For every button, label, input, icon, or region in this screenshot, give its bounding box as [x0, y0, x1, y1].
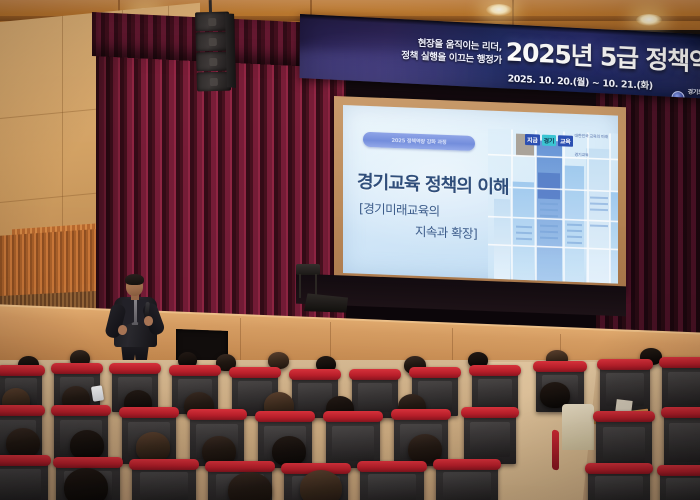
- auditorium-seat: [0, 462, 48, 500]
- attendee-head: [136, 432, 170, 462]
- rack-leg: [299, 274, 301, 298]
- attendee-head: [300, 470, 342, 500]
- attendee-light-coat: [562, 404, 594, 450]
- speaker-side-panel: [225, 13, 236, 88]
- presenter: [104, 276, 168, 368]
- auditorium-seat: [662, 364, 700, 412]
- auditorium-seat: [588, 470, 650, 500]
- slide-title: 경기교육 정책의 이해: [357, 168, 509, 200]
- auditorium-seat: [664, 414, 700, 470]
- logo-tail-line1: 대한민국 교육의 미래: [575, 133, 608, 139]
- logo-tail-line2: 경기교육: [575, 152, 589, 158]
- presenter-hand-right: [144, 316, 153, 326]
- ceiling-downlight: [636, 14, 662, 26]
- seat-armrest: [552, 429, 559, 470]
- speaker-rigging: [209, 0, 212, 12]
- slide-subtitle-1: [경기미래교육의: [359, 198, 440, 220]
- logo-part-gyeonggi: 경기: [542, 134, 556, 146]
- logo-part-education: 교육: [558, 135, 572, 147]
- line-array-speaker: [195, 8, 231, 93]
- attendee-head: [6, 428, 40, 458]
- presenter-hair: [125, 274, 144, 285]
- banner-organization: 경기도교육행정연수원 GYEONGGI-DO OFFICE OF EDUCATI…: [671, 78, 700, 99]
- auditorium-seat: [132, 466, 196, 500]
- auditorium-lecture-photo: 현장을 움직이는 리더, 정책 실행을 이끄는 행정가 2025년 5급 정책역…: [0, 0, 700, 500]
- slide-subtitle-2: 지속과 확장]: [415, 221, 477, 242]
- slide-brand-logo: 지금 경기 교육 대한민국 교육의 미래 경기교육: [525, 120, 608, 161]
- slide-badge-label: 2025 정책역량 강화 과정: [391, 137, 446, 146]
- ceiling-downlight: [486, 4, 512, 16]
- speaker-grill-icon: [209, 37, 217, 45]
- attendee-head: [228, 472, 272, 500]
- auditorium-seat: [464, 414, 516, 464]
- organization-text-block: 경기도교육행정연수원 GYEONGGI-DO OFFICE OF EDUCATI…: [687, 79, 700, 99]
- auditorium-seat: [660, 472, 700, 500]
- logo-tail: 대한민국 교육의 미래 경기교육: [575, 122, 608, 161]
- logo-part-now: 지금: [525, 133, 539, 145]
- speaker-grill-icon: [208, 17, 216, 25]
- auditorium-seat: [360, 468, 424, 500]
- speaker-grill-icon: [210, 77, 218, 85]
- attendee-head: [70, 430, 104, 460]
- slide-badge: 2025 정책역량 강화 과정: [363, 132, 475, 151]
- smartphone: [91, 385, 104, 402]
- organization-name: 경기도교육행정연수원: [688, 89, 700, 99]
- attendee-head: [64, 468, 108, 500]
- auditorium-seat: [436, 466, 498, 500]
- attendee-head: [272, 436, 306, 466]
- speaker-grill-icon: [209, 57, 217, 65]
- equipment-rack: [296, 264, 320, 298]
- projection-screen: 2025 정책역량 강화 과정 지금 경기 교육 대한민국 교육의 미래 경기교…: [343, 105, 618, 284]
